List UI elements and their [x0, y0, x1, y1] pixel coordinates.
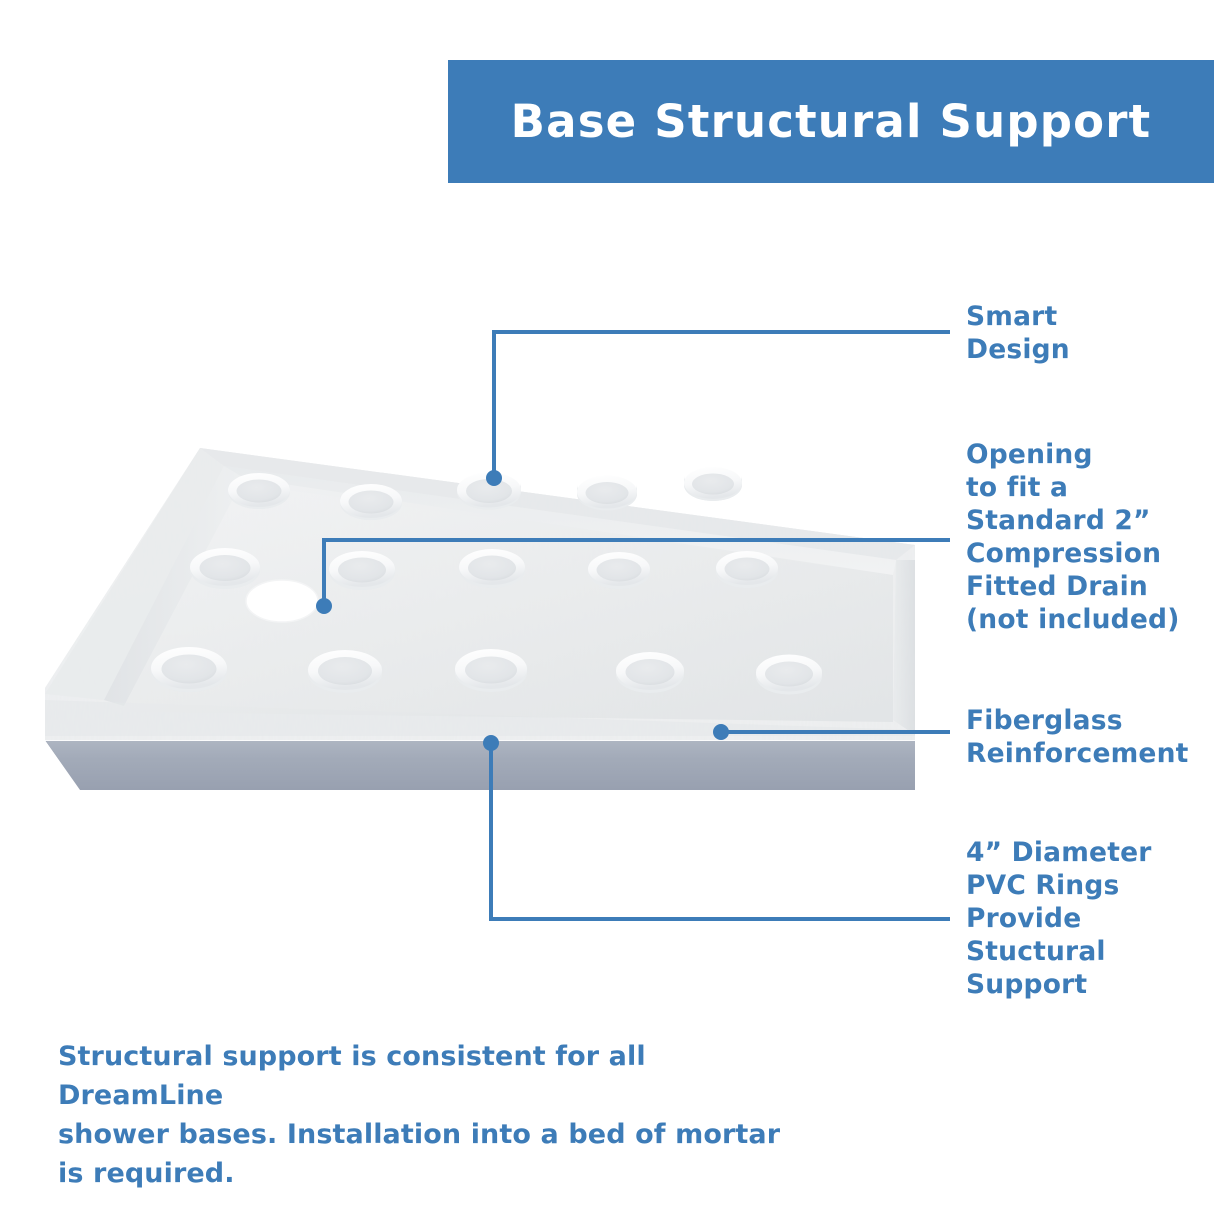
- callout-label-drain-opening: Opening to fit a Standard 2” Compression…: [966, 438, 1180, 636]
- base-deck-top: [40, 440, 925, 750]
- footer-note: Structural support is consistent for all…: [58, 1037, 818, 1193]
- pvc-ring: [459, 549, 525, 588]
- pvc-ring: [756, 655, 822, 695]
- header-banner: Base Structural Support: [448, 60, 1214, 183]
- pvc-ring: [329, 551, 395, 590]
- pvc-ring: [340, 484, 402, 520]
- callout-label-pvc-rings: 4” Diameter PVC Rings Provide Stuctural …: [966, 836, 1152, 1001]
- pvc-ring: [684, 467, 742, 501]
- pvc-ring: [228, 473, 290, 509]
- pvc-ring: [190, 548, 260, 589]
- pvc-ring: [716, 551, 778, 588]
- pvc-ring: [455, 649, 527, 692]
- callout-line-drain-opening: [316, 540, 950, 614]
- pvc-ring: [616, 652, 684, 693]
- pvc-ring: [577, 476, 637, 511]
- pvc-ring: [151, 647, 227, 692]
- base-front-apron: [45, 735, 915, 790]
- base-perimeter-rim: [45, 448, 915, 736]
- callout-line-fiberglass: [713, 724, 950, 740]
- page-root: Base Structural Support Smart Design Ope…: [0, 0, 1214, 1214]
- callout-label-fiberglass: Fiberglass Reinforcement: [966, 704, 1189, 770]
- base-inner-floor: [124, 478, 893, 722]
- pvc-ring: [457, 473, 521, 510]
- drain-opening-oval: [246, 580, 318, 622]
- callout-label-smart-design: Smart Design: [966, 300, 1070, 366]
- callout-line-smart-design: [486, 332, 950, 486]
- page-title: Base Structural Support: [511, 99, 1152, 144]
- callout-line-pvc-rings: [483, 735, 950, 919]
- base-right-apron: [860, 545, 915, 790]
- pvc-ring: [588, 552, 650, 589]
- pvc-ring: [308, 650, 382, 693]
